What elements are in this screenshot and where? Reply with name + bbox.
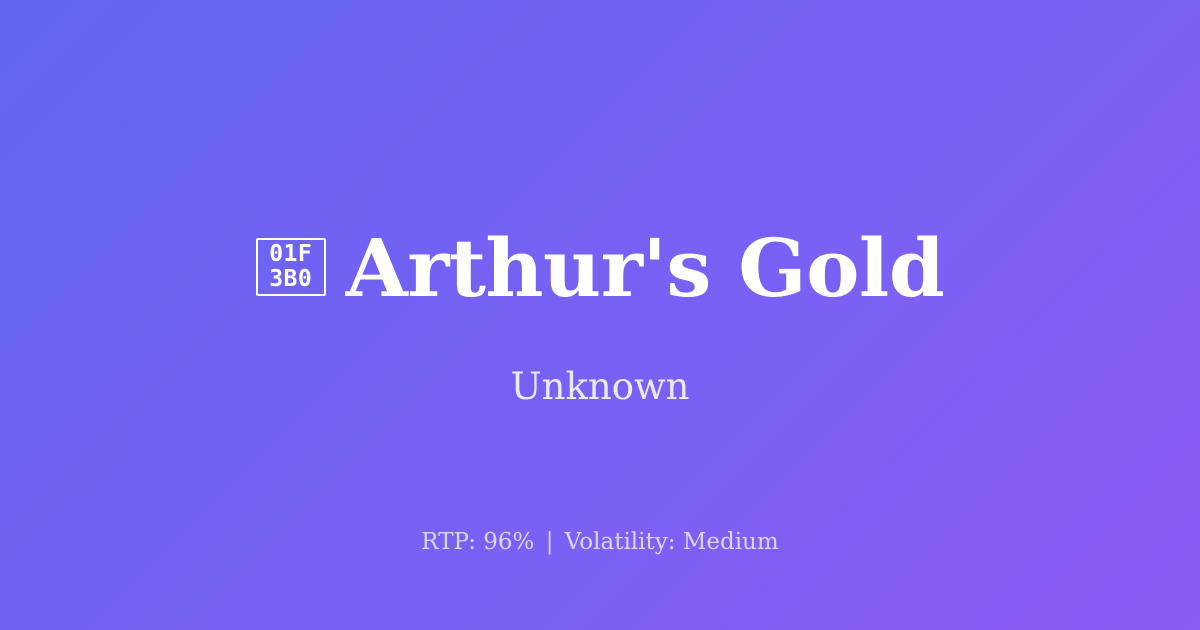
- game-stats-line: RTP: 96% | Volatility: Medium: [0, 527, 1200, 557]
- tofu-codepoint-upper: 01F: [269, 242, 312, 267]
- stats-separator: |: [542, 529, 558, 555]
- slot-machine-emoji-icon: 01F 3B0: [256, 238, 326, 296]
- game-preview-card: 01F 3B0 Arthur's Gold Unknown RTP: 96% |…: [0, 0, 1200, 630]
- rtp-value: 96%: [483, 529, 534, 555]
- title-block: 01F 3B0 Arthur's Gold: [0, 228, 1200, 308]
- page-title: Arthur's Gold: [346, 228, 945, 308]
- volatility-value: Medium: [683, 529, 779, 555]
- provider-subtitle: Unknown: [0, 363, 1200, 411]
- tofu-codepoint: 01F 3B0: [258, 242, 324, 292]
- volatility-label: Volatility:: [565, 529, 676, 555]
- rtp-label: RTP:: [421, 529, 476, 555]
- tofu-codepoint-lower: 3B0: [269, 267, 312, 292]
